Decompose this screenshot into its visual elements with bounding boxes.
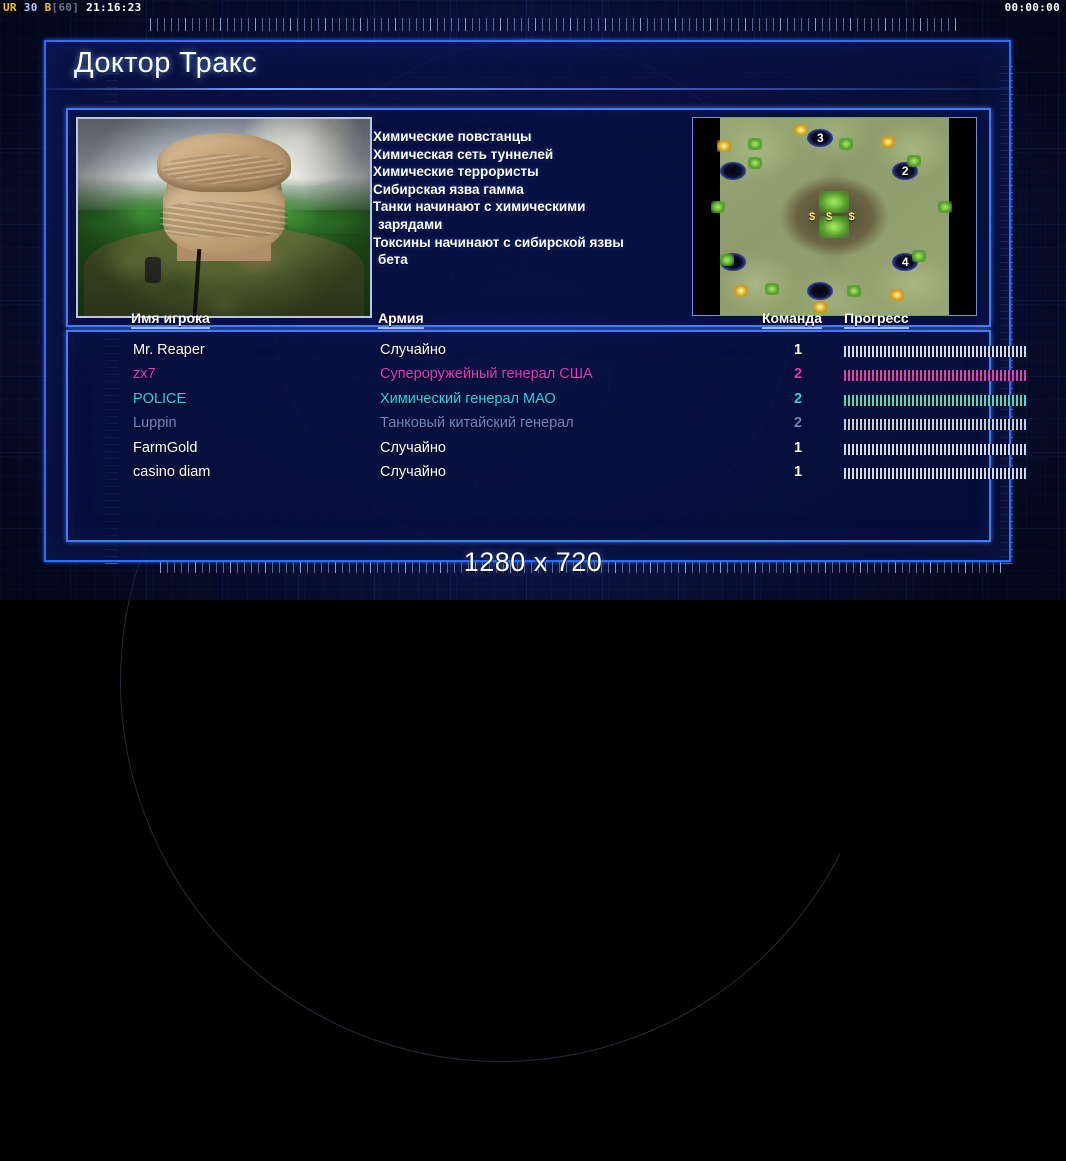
table-row[interactable]: Mr. ReaperСлучайно1	[68, 342, 989, 366]
table-row[interactable]: FarmGoldСлучайно1	[68, 440, 989, 464]
player-progress-bar	[844, 370, 1026, 381]
map-preview: 324$$$	[692, 117, 977, 316]
player-army: Супероружейный генерал США	[380, 366, 593, 382]
page-title: Доктор Тракс	[74, 47, 257, 80]
player-progress-bar	[844, 419, 1026, 430]
map-resource-marker	[819, 216, 849, 238]
player-name: POLICE	[133, 391, 186, 407]
status-clock: 21:16:23	[86, 1, 141, 14]
player-army: Танковый китайский генерал	[380, 415, 574, 431]
player-progress-bar	[844, 346, 1026, 357]
general-description-list: Химические повстанцыХимическая сеть тунн…	[373, 128, 683, 269]
general-info-panel: Химические повстанцыХимическая сеть тунн…	[66, 108, 991, 327]
player-progress-fill	[844, 370, 1026, 381]
player-progress-fill	[844, 346, 1026, 357]
description-line: Токсины начинают с сибирской язвы	[373, 234, 683, 252]
description-line: зарядами	[373, 216, 683, 234]
player-name: casino diam	[133, 464, 210, 480]
player-name: Mr. Reaper	[133, 342, 205, 358]
map-resource-marker	[938, 201, 952, 213]
map-supply-icon: $	[809, 211, 815, 223]
player-progress-bar	[844, 444, 1026, 455]
map-resource-marker	[720, 254, 734, 266]
map-start-position	[720, 162, 746, 180]
player-army: Случайно	[380, 342, 446, 358]
player-name: FarmGold	[133, 440, 197, 456]
column-header-player-name: Имя игрока	[131, 310, 210, 329]
loading-screen-window: Доктор Тракс Химические повстанцы	[44, 40, 1011, 562]
player-list-panel: Имя игрока Армия Команда Прогресс Mr. Re…	[66, 330, 991, 542]
map-resource-marker	[847, 285, 861, 297]
description-line: Сибирская язва гамма	[373, 181, 683, 199]
map-resource-marker	[819, 191, 849, 213]
map-supply-icon: $	[826, 211, 832, 223]
status-bar-left: UR 30 B[60] 21:16:23	[3, 0, 142, 15]
player-progress-bar	[844, 468, 1026, 479]
portrait-vignette	[78, 119, 370, 316]
table-row[interactable]: zx7Супероружейный генерал США2	[68, 366, 989, 390]
column-header-progress: Прогресс	[844, 310, 909, 329]
player-name: zx7	[133, 366, 156, 382]
player-list-header-row: Имя игрока Армия Команда Прогресс	[68, 310, 989, 332]
player-team: 1	[794, 440, 802, 456]
map-resource-marker	[748, 138, 762, 150]
status-bar: UR 30 B[60] 21:16:23 00:00:00	[0, 0, 1066, 15]
map-resource-marker	[748, 157, 762, 169]
status-b-label: B	[45, 1, 52, 14]
table-row[interactable]: casino diamСлучайно1	[68, 464, 989, 488]
player-progress-fill	[844, 395, 1026, 406]
description-line: Химическая сеть туннелей	[373, 146, 683, 164]
column-header-team: Команда	[762, 310, 822, 329]
map-resource-marker	[765, 283, 779, 295]
window-titlebar: Доктор Тракс	[46, 42, 1009, 90]
player-progress-fill	[844, 444, 1026, 455]
map-resource-marker	[717, 140, 731, 152]
description-line: Химические повстанцы	[373, 128, 683, 146]
status-fps-value: 30	[24, 1, 38, 14]
player-team: 1	[794, 464, 802, 480]
column-header-army: Армия	[378, 310, 424, 329]
player-progress-fill	[844, 468, 1026, 479]
map-start-position: 3	[807, 129, 833, 147]
map-resource-marker	[881, 136, 895, 148]
map-resource-marker	[907, 155, 921, 167]
status-bracket-value: [60]	[52, 1, 80, 14]
description-line: Танки начинают с химическими	[373, 198, 683, 216]
player-army: Случайно	[380, 464, 446, 480]
map-resource-marker	[734, 285, 748, 297]
map-resource-marker	[794, 124, 808, 136]
map-resource-marker	[711, 201, 725, 213]
map-resource-marker	[839, 138, 853, 150]
player-progress-fill	[844, 419, 1026, 430]
player-team: 2	[794, 391, 802, 407]
title-divider	[46, 88, 1009, 90]
ruler-top	[150, 18, 962, 31]
player-army: Случайно	[380, 440, 446, 456]
table-row[interactable]: LuppinТанковый китайский генерал2	[68, 415, 989, 439]
map-supply-icon: $	[849, 211, 855, 223]
status-timer: 00:00:00	[1005, 0, 1060, 15]
player-progress-bar	[844, 395, 1026, 406]
status-ur-label: UR	[3, 1, 17, 14]
description-line: Химические террористы	[373, 163, 683, 181]
resolution-label: 1280 x 720	[0, 547, 1066, 578]
map-resource-marker	[890, 289, 904, 301]
general-portrait	[76, 117, 372, 318]
player-name: Luppin	[133, 415, 177, 431]
player-team: 1	[794, 342, 802, 358]
description-line: бета	[373, 251, 683, 269]
table-row[interactable]: POLICEХимический генерал МАО2	[68, 391, 989, 415]
player-team: 2	[794, 415, 802, 431]
map-resource-marker	[912, 250, 926, 262]
player-team: 2	[794, 366, 802, 382]
player-army: Химический генерал МАО	[380, 391, 556, 407]
